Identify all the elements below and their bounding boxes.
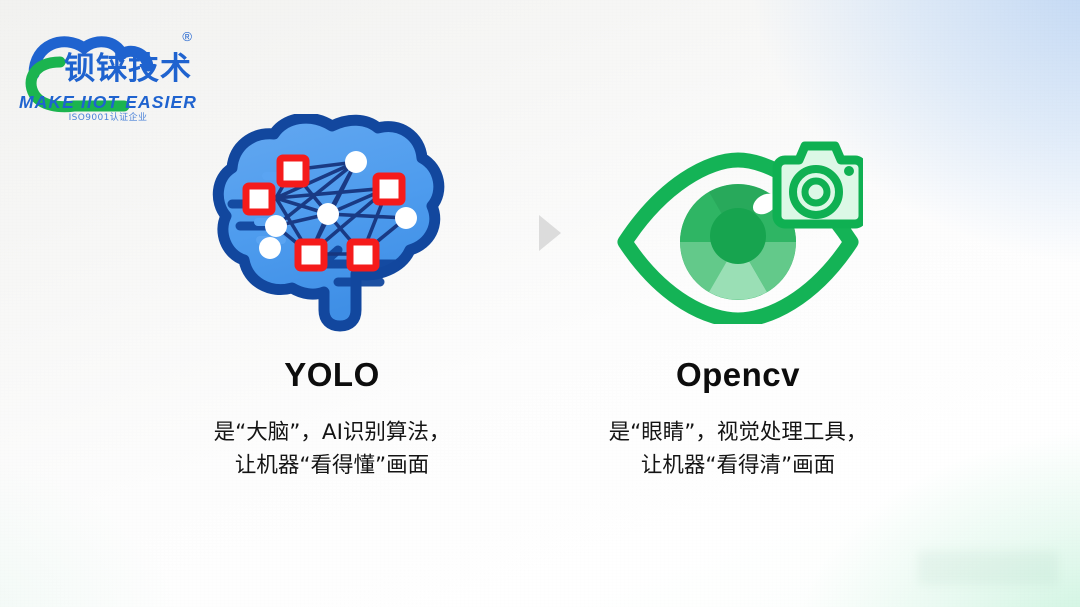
yolo-description-line2: 让机器“看得懂”画面 xyxy=(122,450,542,483)
camera-badge-icon xyxy=(777,146,863,224)
opencv-title: Opencv xyxy=(528,358,948,391)
yolo-icon-container xyxy=(122,110,542,338)
yolo-description-line1: 是“大脑”，AI识别算法， xyxy=(214,420,451,445)
yolo-description: 是“大脑”，AI识别算法， 让机器“看得懂”画面 xyxy=(122,417,542,482)
concept-card-yolo: YOLO 是“大脑”，AI识别算法， 让机器“看得懂”画面 xyxy=(122,110,542,482)
slide-canvas: ® 钡铼技术 MAKE IIOT EASIER ISO9001认证企业 xyxy=(0,0,1080,607)
opencv-icon-container xyxy=(528,110,948,338)
brain-neural-network-icon xyxy=(210,114,454,334)
opencv-description-line2: 让机器“看得清”画面 xyxy=(528,450,948,483)
registered-trademark-icon: ® xyxy=(182,30,192,43)
yolo-title: YOLO xyxy=(122,358,542,391)
logo-tagline: MAKE IIOT EASIER xyxy=(18,94,198,112)
opencv-description-line1: 是“眼睛”，视觉处理工具， xyxy=(609,420,868,445)
logo-company-name-cn: 钡铼技术 xyxy=(64,54,192,85)
blurred-watermark xyxy=(918,551,1058,585)
opencv-description: 是“眼睛”，视觉处理工具， 让机器“看得清”画面 xyxy=(528,417,948,482)
concept-card-opencv: Opencv 是“眼睛”，视觉处理工具， 让机器“看得清”画面 xyxy=(528,110,948,482)
eye-camera-icon xyxy=(613,124,863,324)
